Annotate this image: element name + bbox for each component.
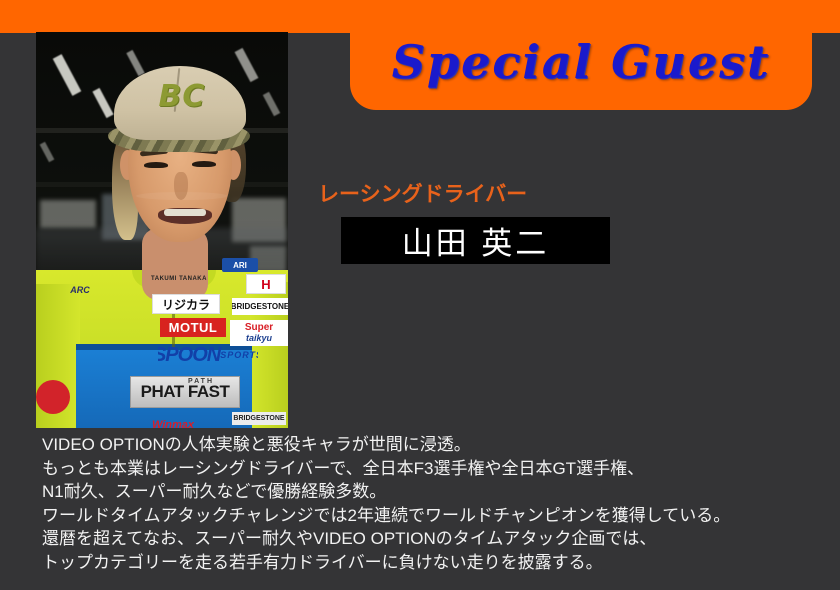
nose — [174, 172, 188, 200]
name-box: 山田 英二 — [341, 217, 610, 264]
cap-logo-text: BC — [144, 80, 220, 114]
sponsor-logo-ari: ARI — [222, 258, 258, 272]
eye-right — [192, 161, 216, 167]
sponsor-logo-bridgestone-lower: BRIDGESTONE — [232, 412, 286, 425]
teeth — [164, 209, 206, 216]
sponsor-logo-winmax: Winmax — [142, 418, 204, 428]
eye-left — [144, 162, 168, 168]
driver-photo: BC ARI ARC TAKUMI TANAKA H BRIDGESTONE S… — [36, 32, 288, 428]
sponsor-logo-spoon-main: SPOON — [158, 344, 220, 367]
sponsor-logo-red-circle — [36, 380, 70, 414]
sponsor-logo-rijicara: リジカラ — [152, 294, 220, 314]
sponsor-logo-motul: MOTUL — [160, 318, 226, 337]
sponsor-logo-phat-fast: PHAT FAST — [130, 376, 240, 408]
bio-line: N1耐久、スーパー耐久などで優勝経験多数。 — [42, 480, 832, 504]
sponsor-logo-super-taikyu-top: Super — [245, 323, 273, 333]
background-panel — [40, 200, 96, 228]
bio-line: VIDEO OPTIONの人体実験と悪役キャラが世間に浸透。 — [42, 433, 832, 457]
bio-line: 還暦を超えてなお、スーパー耐久やVIDEO OPTIONのタイムアタック企画では… — [42, 527, 832, 551]
guest-name: 山田 英二 — [402, 218, 550, 263]
slide-root: Special Guest — [0, 0, 840, 590]
banner-title: Special Guest — [350, 26, 812, 98]
bio-line: ワールドタイムアタックチャレンジでは2年連続でワールドチャンピオンを獲得している… — [42, 504, 832, 528]
sponsor-logo-honda: H — [246, 274, 286, 294]
sponsor-logo-spoon: SPOON SPORTS — [158, 340, 258, 370]
sponsor-logo-spoon-sub: SPORTS — [220, 350, 258, 360]
role-label: レーシングドライバー — [318, 182, 738, 208]
bio-line: トップカテゴリーを走る若手有力ドライバーに負けない走りを披露する。 — [42, 551, 832, 575]
sponsor-logo-arc: ARC — [66, 284, 94, 296]
bio-line: もっとも本業はレーシングドライバーで、全日本F3選手権や全日本GT選手権、 — [42, 457, 832, 481]
sponsor-logo-path: PATH — [188, 378, 214, 385]
bio-text: VIDEO OPTIONの人体実験と悪役キャラが世間に浸透。 もっとも本業はレー… — [42, 433, 832, 575]
sponsor-logo-tanaka: TAKUMI TANAKA — [144, 272, 214, 286]
sponsor-logo-bridgestone: BRIDGESTONE — [232, 298, 288, 315]
